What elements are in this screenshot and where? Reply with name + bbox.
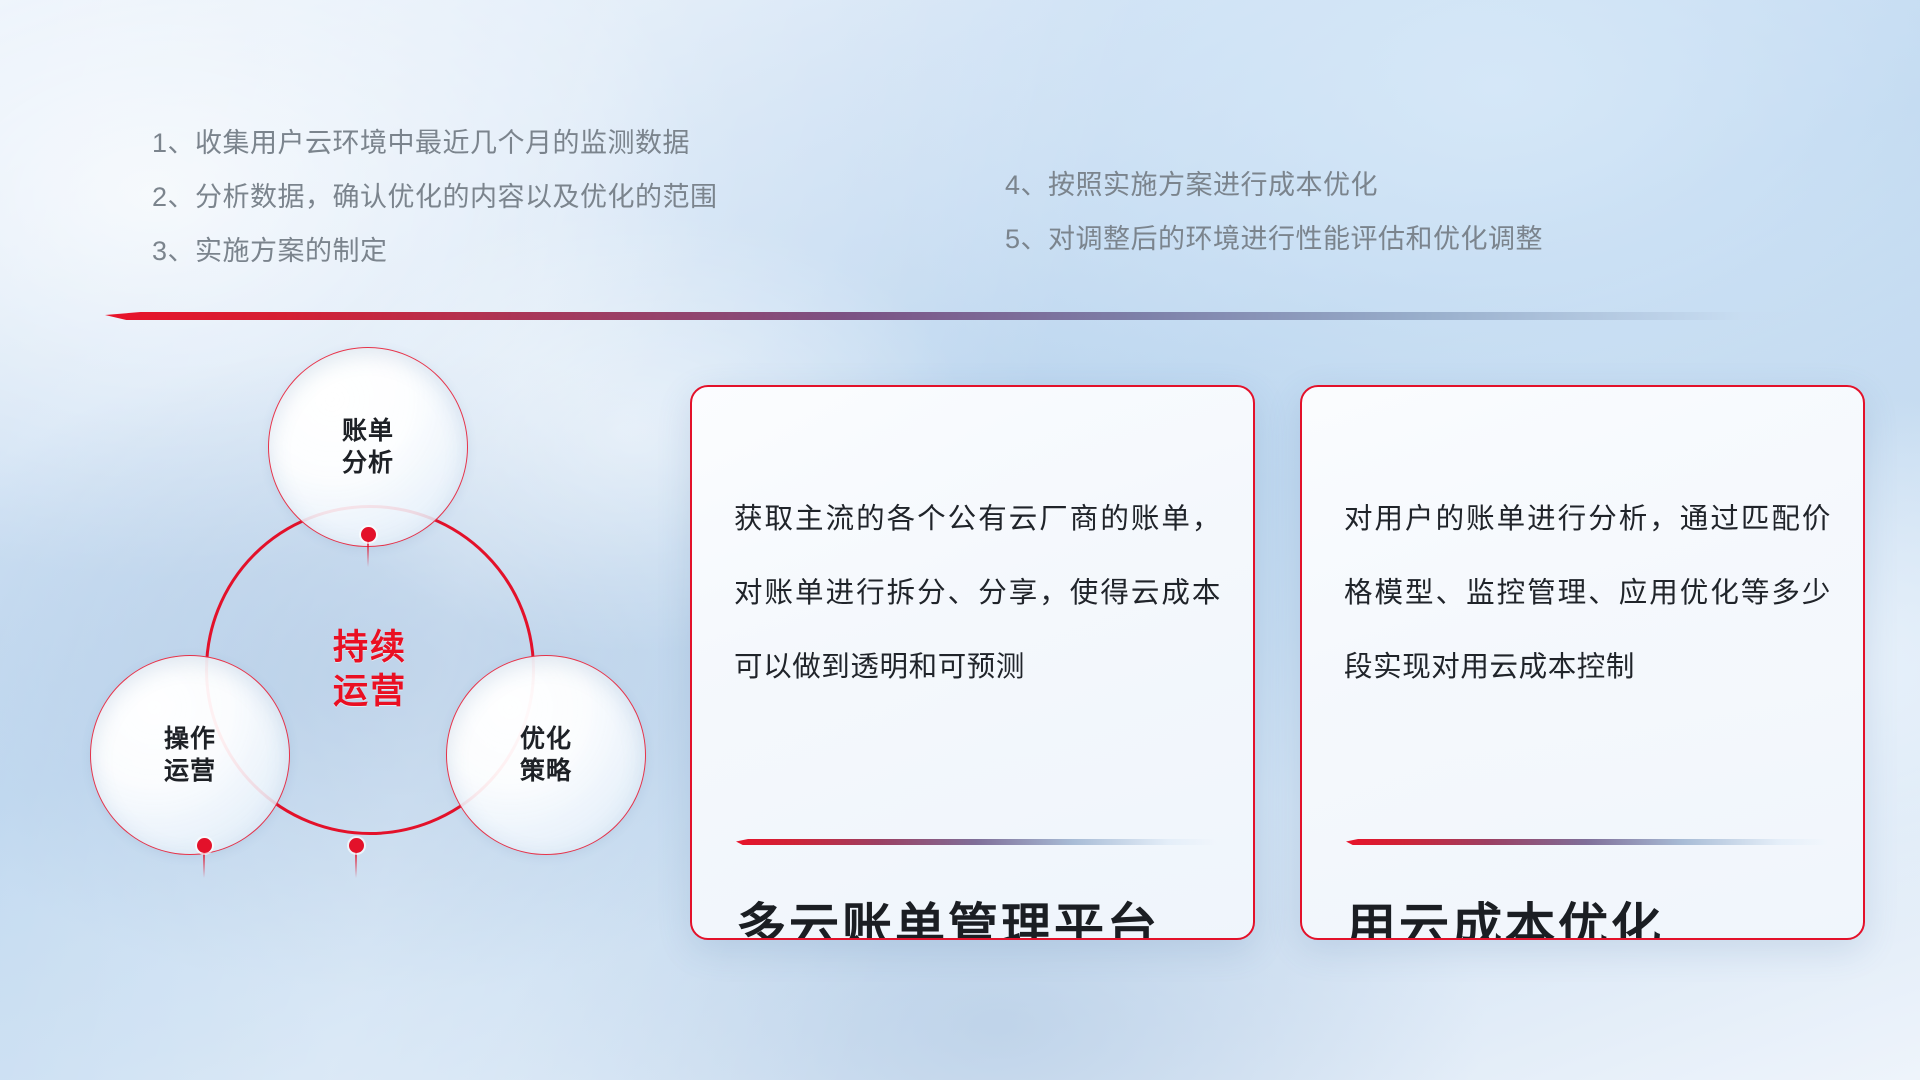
card-title: 多云账单管理平台 xyxy=(736,887,1160,940)
section-divider xyxy=(105,312,1885,320)
venn-node-dot-top xyxy=(361,527,376,542)
bullet-list-left: 1、收集用户云环境中最近几个月的监测数据 2、分析数据，确认优化的内容以及优化的… xyxy=(152,116,718,278)
venn-node-stem-top xyxy=(367,541,369,567)
venn-diagram: 账单 分析 操作 运营 优化 策略 持续 运营 xyxy=(100,355,660,945)
card-divider xyxy=(1346,839,1827,845)
venn-node-stem-right xyxy=(355,852,357,878)
bullet-item-1: 1、收集用户云环境中最近几个月的监测数据 xyxy=(152,116,718,170)
card-body-text: 获取主流的各个公有云厂商的账单，对账单进行拆分、分享，使得云成本可以做到透明和可… xyxy=(734,482,1221,704)
bullet-list-right: 4、按照实施方案进行成本优化 5、对调整后的环境进行性能评估和优化调整 xyxy=(1005,158,1543,266)
venn-node-dot-left xyxy=(197,838,212,853)
bullet-item-3: 3、实施方案的制定 xyxy=(152,224,718,278)
card-divider xyxy=(736,839,1217,845)
bullet-item-5: 5、对调整后的环境进行性能评估和优化调整 xyxy=(1005,212,1543,266)
card-title: 用云成本优化 xyxy=(1346,887,1664,940)
feature-card-multicloud-billing[interactable]: 获取主流的各个公有云厂商的账单，对账单进行拆分、分享，使得云成本可以做到透明和可… xyxy=(690,385,1255,940)
venn-node-dot-right xyxy=(349,838,364,853)
card-body-text: 对用户的账单进行分析，通过匹配价格模型、监控管理、应用优化等多少段实现对用云成本… xyxy=(1344,482,1831,704)
venn-center-label: 持续 运营 xyxy=(333,626,407,714)
feature-card-cloud-cost-optimization[interactable]: 对用户的账单进行分析，通过匹配价格模型、监控管理、应用优化等多少段实现对用云成本… xyxy=(1300,385,1865,940)
venn-lobe-label: 账单 分析 xyxy=(342,415,394,479)
bullet-item-4: 4、按照实施方案进行成本优化 xyxy=(1005,158,1543,212)
venn-node-stem-left xyxy=(203,852,205,878)
bullet-item-2: 2、分析数据，确认优化的内容以及优化的范围 xyxy=(152,170,718,224)
venn-center: 持续 运营 xyxy=(205,505,535,835)
